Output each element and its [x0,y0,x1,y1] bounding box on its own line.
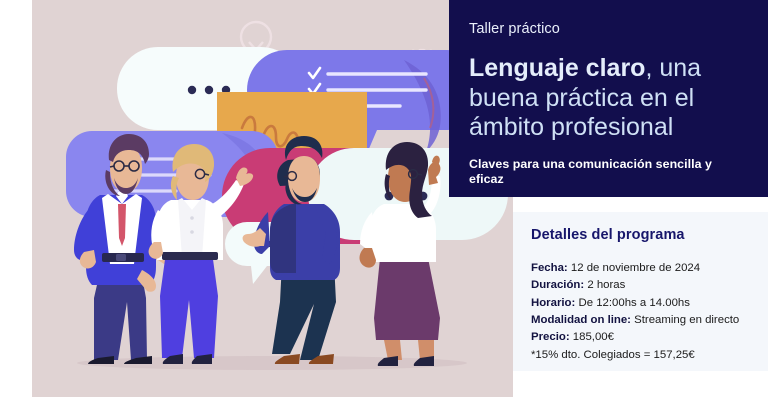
detail-row-precio: Precio: 185,00€ [531,329,758,346]
detail-label-duracion: Duración: [531,279,584,291]
detail-label-horario: Horario: [531,297,575,309]
discount-note: *15% dto. Colegiados = 157,25€ [531,347,758,364]
headline-emphasis: Lenguaje claro [469,54,645,82]
headline-panel: Taller práctico Lenguaje claro, una buen… [449,0,768,197]
detail-value-duracion: 2 horas [587,279,625,291]
poster-canvas: Taller práctico Lenguaje claro, una buen… [0,0,768,417]
detail-row-modalidad: Modalidad on line: Streaming en directo [531,312,758,329]
detail-value-precio: 185,00€ [573,331,614,343]
detail-row-fecha: Fecha: 12 de noviembre de 2024 [531,260,758,277]
kicker-text: Taller práctico [469,22,750,38]
page-title: Lenguaje claro, una buena práctica en el… [469,54,750,143]
detail-row-horario: Horario: De 12:00hs a 14.00hs [531,295,758,312]
illustration-artwork [32,0,513,397]
details-title: Detalles del programa [531,228,758,244]
details-list: Fecha: 12 de noviembre de 2024 Duración:… [531,260,758,347]
detail-row-duracion: Duración: 2 horas [531,277,758,294]
illustration-panel [32,0,513,397]
detail-label-fecha: Fecha: [531,262,568,274]
subtitle-text: Claves para una comunicación sencilla y … [469,157,750,187]
detail-label-precio: Precio: [531,331,570,343]
detail-value-modalidad: Streaming en directo [634,314,739,326]
detail-value-horario: De 12:00hs a 14.00hs [578,297,689,309]
detail-label-modalidad: Modalidad on line: [531,314,631,326]
detail-value-fecha: 12 de noviembre de 2024 [571,262,700,274]
program-details-panel: Detalles del programa Fecha: 12 de novie… [513,212,768,371]
